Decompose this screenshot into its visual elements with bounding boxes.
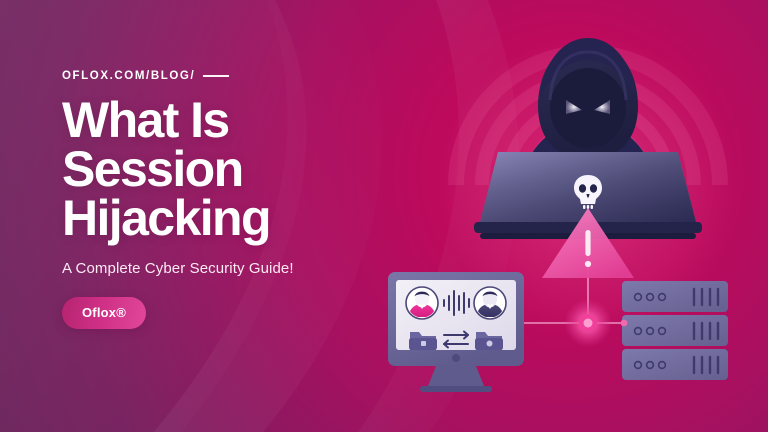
user-avatar-victim xyxy=(406,287,438,319)
hero-text-column: OFLOX.COM/BLOG/ What Is Session Hijackin… xyxy=(62,70,402,329)
headline-line-3: Hijacking xyxy=(62,194,402,243)
server-rack xyxy=(621,281,728,380)
network-node xyxy=(564,299,612,347)
server-unit-1 xyxy=(622,281,728,312)
user-avatar-attacker xyxy=(474,287,506,319)
hero-banner: OFLOX.COM/BLOG/ What Is Session Hijackin… xyxy=(0,0,768,432)
breadcrumb: OFLOX.COM/BLOG/ xyxy=(62,70,402,82)
monitor xyxy=(388,272,524,392)
server-unit-2 xyxy=(622,315,728,346)
page-title: What Is Session Hijacking xyxy=(62,96,402,243)
session-hijacking-illustration xyxy=(370,0,768,432)
breadcrumb-rule-icon xyxy=(203,75,229,77)
headline-line-1: What Is xyxy=(62,96,402,145)
headline-line-2: Session xyxy=(62,145,402,194)
breadcrumb-label: OFLOX.COM/BLOG/ xyxy=(62,70,195,82)
page-subtitle: A Complete Cyber Security Guide! xyxy=(62,260,402,277)
brand-badge[interactable]: Oflox® xyxy=(62,297,146,329)
server-unit-3 xyxy=(622,349,728,380)
